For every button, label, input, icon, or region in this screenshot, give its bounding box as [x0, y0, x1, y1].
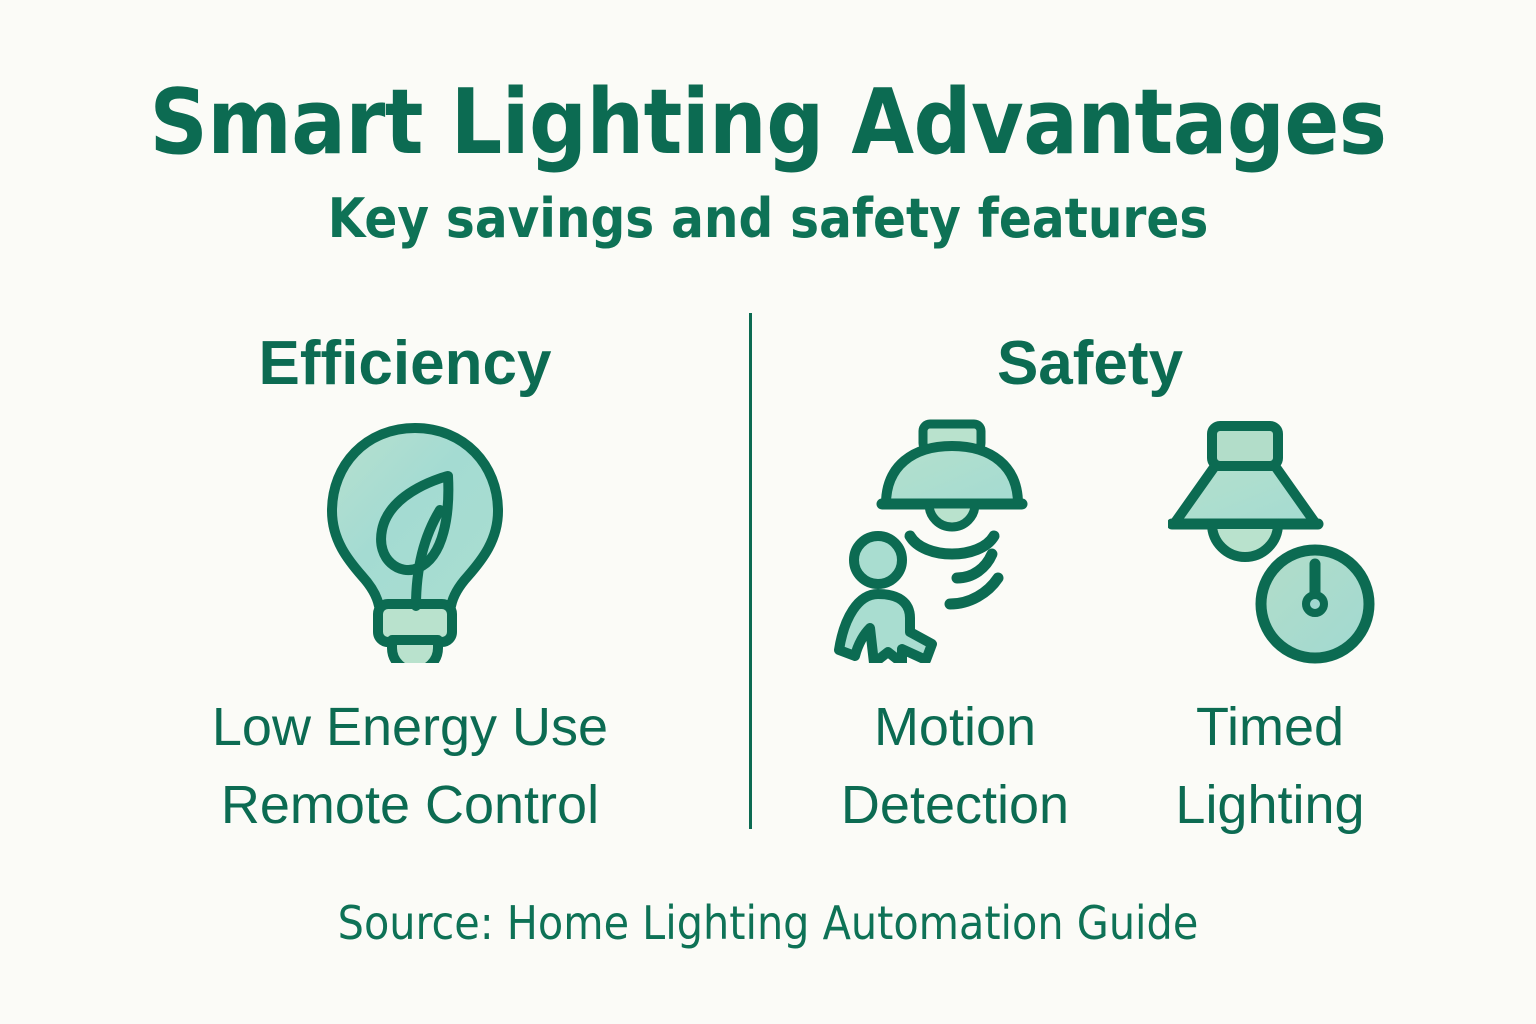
label-line: Low Energy Use [100, 688, 720, 766]
page-title: Smart Lighting Advantages [0, 78, 1536, 168]
panel-heading-safety: Safety [820, 333, 1360, 395]
label-line: Timed [1120, 688, 1420, 766]
panel-heading-efficiency: Efficiency [140, 333, 670, 395]
panel-divider [749, 313, 752, 829]
panel-label-efficiency: Low Energy Use Remote Control [100, 688, 720, 845]
label-line: Lighting [1120, 766, 1420, 844]
panel-label-motion: Motion Detection [800, 688, 1110, 845]
motion-sensor-lamp-icon [828, 418, 1063, 663]
label-line: Detection [800, 766, 1110, 844]
panel-label-timed: Timed Lighting [1120, 688, 1420, 845]
label-line: Motion [800, 688, 1110, 766]
label-line: Remote Control [100, 766, 720, 844]
pendant-lamp-timer-icon [1168, 412, 1393, 672]
lightbulb-leaf-icon [320, 418, 510, 663]
infographic-canvas: Smart Lighting Advantages Key savings an… [0, 0, 1536, 1024]
page-subtitle: Key savings and safety features [0, 192, 1536, 246]
source-caption: Source: Home Lighting Automation Guide [0, 900, 1536, 946]
